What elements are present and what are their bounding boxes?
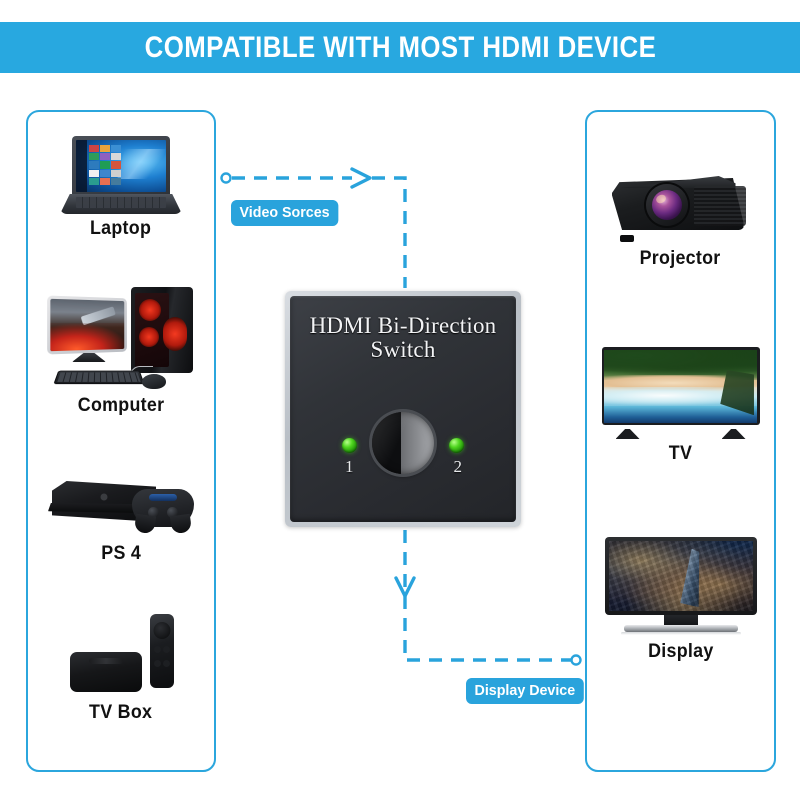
video-source-endpoint-dot xyxy=(222,174,231,183)
monitor-screen xyxy=(609,541,753,611)
device-label-laptop: Laptop xyxy=(90,218,151,240)
pc-mouse xyxy=(142,374,166,389)
device-item-projector: Projector xyxy=(587,160,774,270)
port-label-2: 2 xyxy=(454,457,463,477)
device-item-computer: Computer xyxy=(28,287,214,417)
game-console-icon xyxy=(46,467,196,539)
controller-grip xyxy=(170,514,192,535)
display-devices-panel: Projector TV xyxy=(585,110,776,772)
device-item-tv: TV xyxy=(587,347,774,465)
laptop-taskbar xyxy=(76,140,87,192)
header-banner: COMPATIBLE WITH MOST HDMI DEVICE xyxy=(0,22,800,73)
monitor-base-shadow xyxy=(621,632,741,635)
arrow-down-icon xyxy=(396,578,414,596)
hdmi-switch-device: HDMI Bi-Direction Switch 1 2 xyxy=(285,291,521,527)
pc-fan xyxy=(163,317,187,351)
port-led-2 xyxy=(449,438,464,453)
tv-box-unit xyxy=(70,652,142,692)
video-sources-tag: Video Sorces xyxy=(231,200,338,226)
projector-lens-ring xyxy=(646,184,688,226)
ps4-controller xyxy=(132,489,194,527)
device-label-ps4: PS 4 xyxy=(101,543,141,565)
pc-fan xyxy=(139,299,161,321)
television-icon xyxy=(602,347,760,439)
pc-monitor-screen xyxy=(50,299,124,351)
rotary-selector-knob[interactable] xyxy=(372,412,434,474)
projector-lens xyxy=(652,190,682,220)
device-label-tv-box: TV Box xyxy=(89,702,152,724)
device-item-display: Display xyxy=(587,537,774,663)
tv-screen xyxy=(604,350,757,423)
remote-touchpad xyxy=(154,622,171,639)
poster-canvas: COMPATIBLE WITH MOST HDMI DEVICE Video S… xyxy=(0,0,800,800)
device-label-tv: TV xyxy=(669,443,692,465)
controller-grip xyxy=(134,514,156,535)
remote-button xyxy=(163,646,170,653)
page-title: COMPATIBLE WITH MOST HDMI DEVICE xyxy=(144,31,656,65)
projector-icon xyxy=(606,160,756,244)
laptop-icon xyxy=(60,136,182,214)
device-item-ps4: PS 4 xyxy=(28,467,214,565)
tv-bezel xyxy=(602,347,760,425)
tv-stand-leg xyxy=(616,429,640,439)
display-device-tag: Display Device xyxy=(466,678,584,704)
monitor-base xyxy=(624,625,738,632)
tv-box-remote xyxy=(150,614,174,688)
desktop-computer-icon xyxy=(46,287,196,391)
video-source-to-switch-line xyxy=(372,178,405,288)
tv-box-icon xyxy=(46,612,196,698)
remote-button xyxy=(163,660,170,667)
laptop-lid xyxy=(72,136,170,196)
device-item-laptop: Laptop xyxy=(28,136,214,240)
pc-fan xyxy=(139,327,159,347)
device-label-computer: Computer xyxy=(78,395,165,417)
switch-to-display-line xyxy=(405,530,572,660)
laptop-keyboard xyxy=(76,197,166,208)
pc-tower-case xyxy=(131,287,193,373)
port-label-1: 1 xyxy=(345,457,354,477)
projector-vent xyxy=(694,186,746,226)
pc-monitor xyxy=(47,296,127,355)
laptop-base xyxy=(60,194,182,214)
switch-title-line1: HDMI Bi-Direction xyxy=(290,314,516,338)
device-label-display: Display xyxy=(648,641,714,663)
port-led-1 xyxy=(342,438,357,453)
arrow-right-icon xyxy=(352,169,370,187)
display-device-endpoint-dot xyxy=(572,656,581,665)
monitor-image-cityblocks xyxy=(609,541,753,611)
switch-title: HDMI Bi-Direction Switch xyxy=(290,314,516,363)
remote-button xyxy=(154,646,161,653)
laptop-start-tiles xyxy=(87,143,123,187)
tv-stand-leg xyxy=(722,429,746,439)
monitor-icon xyxy=(605,537,757,637)
device-label-projector: Projector xyxy=(640,248,721,270)
switch-title-line2: Switch xyxy=(290,338,516,362)
video-sources-panel: Laptop xyxy=(26,110,216,772)
laptop-screen xyxy=(76,140,166,192)
projector-foot xyxy=(620,235,634,242)
device-item-tv-box: TV Box xyxy=(28,612,214,724)
switch-faceplate: HDMI Bi-Direction Switch 1 2 xyxy=(290,296,516,522)
pc-keyboard xyxy=(53,371,144,384)
pc-monitor-stand xyxy=(72,353,106,362)
remote-button xyxy=(154,660,161,667)
monitor-bezel xyxy=(605,537,757,615)
